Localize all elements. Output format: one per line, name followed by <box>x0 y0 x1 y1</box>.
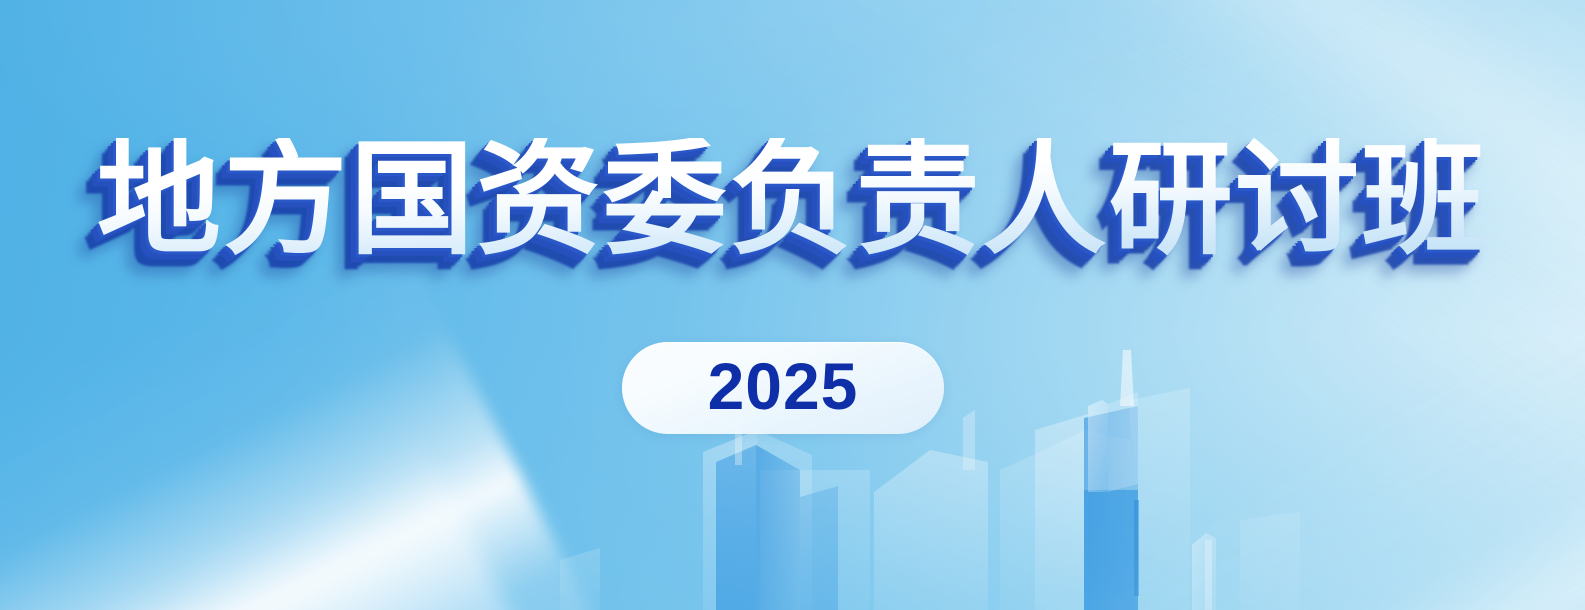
seminar-banner: 地方国资委负责人研讨班 2025 <box>0 0 1585 610</box>
banner-title-wrap: 地方国资委负责人研讨班 <box>0 138 1585 262</box>
year-badge: 2025 <box>622 342 944 434</box>
year-badge-label: 2025 <box>708 353 859 423</box>
background-bottom-tint <box>0 0 1585 610</box>
banner-title: 地方国资委负责人研讨班 <box>97 138 1488 262</box>
